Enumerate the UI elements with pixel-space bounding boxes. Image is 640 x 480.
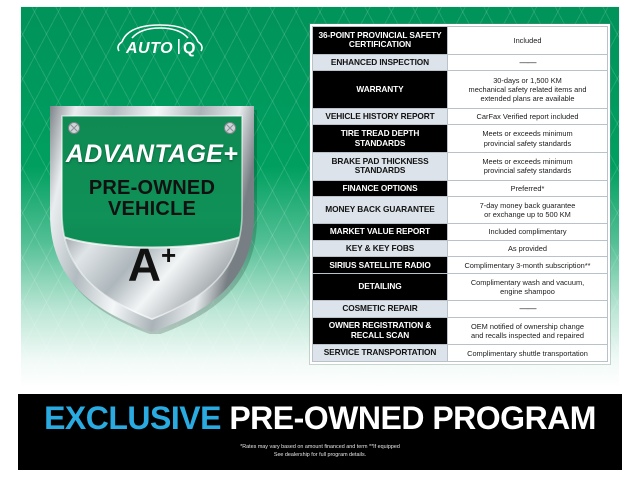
feature-value-line: 7-day money back guarantee (451, 201, 604, 210)
feature-value-line: As provided (451, 244, 604, 253)
feature-value-line: Meets or exceeds minimum (451, 129, 604, 138)
feature-value-line: and recalls inspected and repaired (451, 331, 604, 340)
feature-label-cell: COSMETIC REPAIR (313, 300, 448, 317)
feature-value-line: 30-days or 1,500 KM (451, 76, 604, 85)
autoiq-logo: AUTO Q (108, 18, 212, 60)
table-row: VEHICLE HISTORY REPORTCarFax Verified re… (313, 108, 608, 125)
feature-label-cell: MARKET VALUE REPORT (313, 224, 448, 241)
feature-label-cell: VEHICLE HISTORY REPORT (313, 108, 448, 125)
feature-value-line: or exchange up to 500 KM (451, 210, 604, 219)
program-features-table-card: 36-POINT PROVINCIAL SAFETY CERTIFICATION… (310, 24, 610, 364)
feature-label-cell: MONEY BACK GUARANTEE (313, 197, 448, 224)
feature-value-line: engine shampoo (451, 287, 604, 296)
feature-label-cell: SERVICE TRANSPORTATION (313, 345, 448, 362)
table-row: TIRE TREAD DEPTH STANDARDSMeets or excee… (313, 125, 608, 153)
banner-disclaimer: *Rates may vary based on amount financed… (18, 444, 622, 459)
feature-value-line: OEM notified of ownership change (451, 322, 604, 331)
feature-label-cell: ENHANCED INSPECTION (313, 54, 448, 71)
feature-label-cell: DETAILING (313, 274, 448, 301)
table-body: 36-POINT PROVINCIAL SAFETY CERTIFICATION… (313, 27, 608, 362)
feature-value-line: —— (451, 304, 604, 313)
bottom-banner: EXCLUSIVE PRE-OWNED PROGRAM *Rates may v… (18, 394, 622, 470)
feature-value-cell: Complimentary 3-month subscription** (448, 257, 608, 274)
banner-title-highlight: EXCLUSIVE (44, 400, 221, 436)
banner-title: EXCLUSIVE PRE-OWNED PROGRAM (18, 400, 622, 437)
table-row: SERVICE TRANSPORTATIONComplimentary shut… (313, 345, 608, 362)
feature-value-line: provincial safety standards (451, 139, 604, 148)
feature-label-cell: TIRE TREAD DEPTH STANDARDS (313, 125, 448, 153)
feature-value-cell: As provided (448, 240, 608, 257)
feature-value-line: CarFax Verified report included (451, 112, 604, 121)
feature-value-line: —— (451, 58, 604, 67)
feature-value-line: Included (451, 36, 604, 45)
feature-value-line: Complimentary 3-month subscription** (451, 261, 604, 270)
feature-value-cell: —— (448, 300, 608, 317)
feature-label-cell: BRAKE PAD THICKNESS STANDARDS (313, 152, 448, 180)
table-row: DETAILINGComplimentary wash and vacuum,e… (313, 274, 608, 301)
feature-value-cell: Complimentary shuttle transportation (448, 345, 608, 362)
feature-label-cell: WARRANTY (313, 71, 448, 108)
feature-value-cell: Meets or exceeds minimumprovincial safet… (448, 125, 608, 153)
feature-value-cell: Included (448, 27, 608, 55)
feature-value-line: extended plans are available (451, 94, 604, 103)
table-row: BRAKE PAD THICKNESS STANDARDSMeets or ex… (313, 152, 608, 180)
table-row: FINANCE OPTIONSPreferred* (313, 180, 608, 197)
feature-value-cell: —— (448, 54, 608, 71)
table-row: KEY & KEY FOBSAs provided (313, 240, 608, 257)
feature-value-cell: 30-days or 1,500 KMmechanical safety rel… (448, 71, 608, 108)
feature-label-cell: OWNER REGISTRATION & RECALL SCAN (313, 317, 448, 345)
table-row: MONEY BACK GUARANTEE7-day money back gua… (313, 197, 608, 224)
table-row: WARRANTY30-days or 1,500 KMmechanical sa… (313, 71, 608, 108)
feature-value-line: Meets or exceeds minimum (451, 157, 604, 166)
feature-value-cell: OEM notified of ownership changeand reca… (448, 317, 608, 345)
disclaimer-line-2: See dealership for full program details. (18, 452, 622, 460)
disclaimer-line-1: *Rates may vary based on amount financed… (18, 444, 622, 452)
table-row: 36-POINT PROVINCIAL SAFETY CERTIFICATION… (313, 27, 608, 55)
feature-value-cell: Complimentary wash and vacuum,engine sha… (448, 274, 608, 301)
rivet-icon (225, 123, 236, 134)
feature-label-cell: 36-POINT PROVINCIAL SAFETY CERTIFICATION (313, 27, 448, 55)
feature-value-line: Preferred* (451, 184, 604, 193)
feature-value-cell: CarFax Verified report included (448, 108, 608, 125)
feature-label-cell: FINANCE OPTIONS (313, 180, 448, 197)
pre-owned-program-poster: AUTO Q (0, 0, 640, 480)
feature-value-line: Included complimentary (451, 227, 604, 236)
feature-value-line: provincial safety standards (451, 166, 604, 175)
table-row: MARKET VALUE REPORTIncluded complimentar… (313, 224, 608, 241)
table-row: SIRIUS SATELLITE RADIOComplimentary 3-mo… (313, 257, 608, 274)
feature-label-cell: KEY & KEY FOBS (313, 240, 448, 257)
feature-value-line: mechanical safety related items and (451, 85, 604, 94)
svg-text:Q: Q (183, 40, 195, 57)
advantage-plus-shield-badge: ADVANTAGE+ PRE-OWNED VEHICLE A+ (36, 84, 268, 334)
program-features-table: 36-POINT PROVINCIAL SAFETY CERTIFICATION… (312, 26, 608, 362)
feature-value-cell: 7-day money back guaranteeor exchange up… (448, 197, 608, 224)
feature-label-cell: SIRIUS SATELLITE RADIO (313, 257, 448, 274)
table-row: ENHANCED INSPECTION—— (313, 54, 608, 71)
svg-text:AUTO: AUTO (125, 40, 173, 57)
table-row: COSMETIC REPAIR—— (313, 300, 608, 317)
rivet-icon (69, 123, 80, 134)
banner-title-rest: PRE-OWNED PROGRAM (221, 400, 596, 436)
table-row: OWNER REGISTRATION & RECALL SCANOEM noti… (313, 317, 608, 345)
feature-value-line: Complimentary shuttle transportation (451, 349, 604, 358)
feature-value-cell: Meets or exceeds minimumprovincial safet… (448, 152, 608, 180)
feature-value-cell: Included complimentary (448, 224, 608, 241)
feature-value-cell: Preferred* (448, 180, 608, 197)
feature-value-line: Complimentary wash and vacuum, (451, 278, 604, 287)
